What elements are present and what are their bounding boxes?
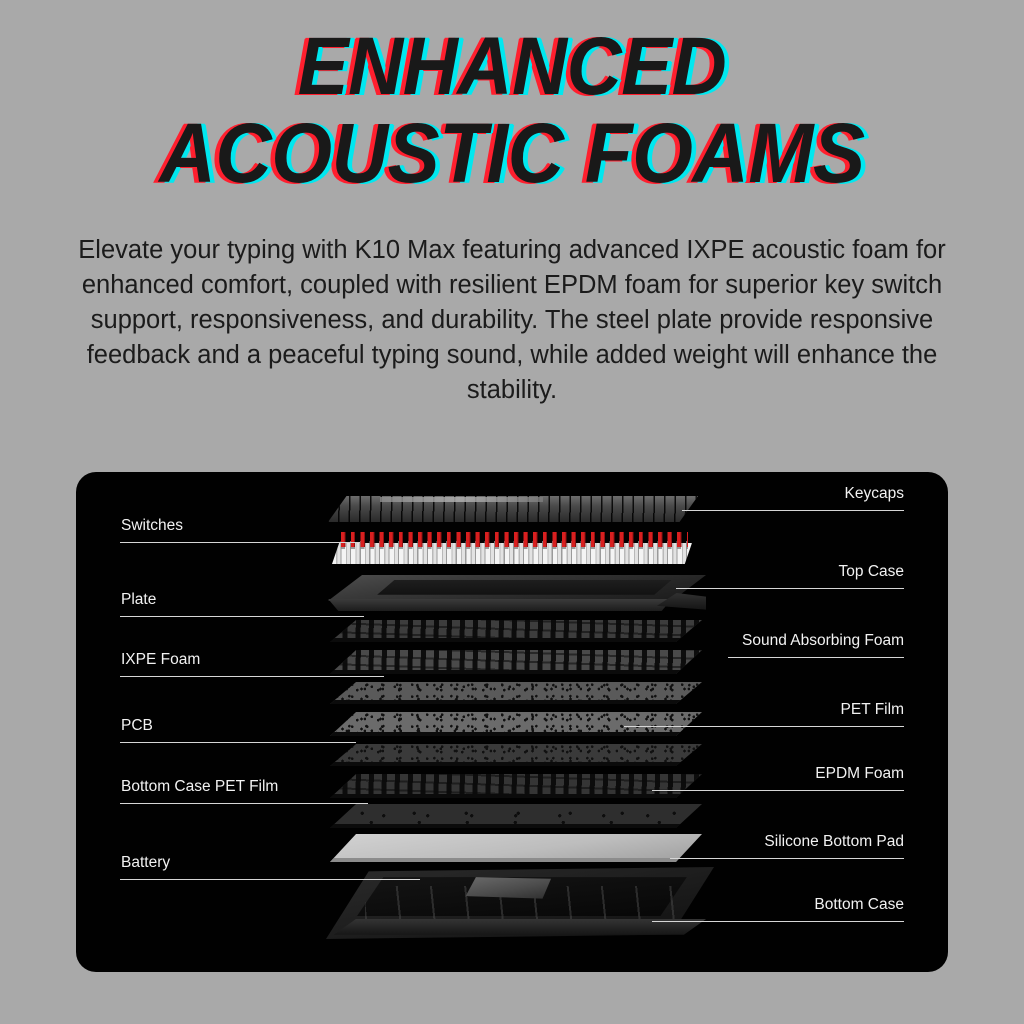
label-epdm-foam-text: EPDM Foam (815, 765, 904, 782)
top-case-front-face (328, 599, 672, 611)
silicone-bottom-pad-edge (330, 858, 702, 862)
label-battery: Battery (121, 855, 170, 871)
label-top-case-text: Top Case (839, 563, 904, 580)
layer-keycaps (328, 496, 698, 522)
label-top-case: Top Case (839, 564, 904, 580)
label-keycaps-text: Keycaps (845, 485, 904, 502)
label-sound-absorbing-foam-text: Sound Absorbing Foam (742, 632, 904, 649)
layer-bottom-case-pet-film (330, 804, 702, 828)
leader-switches (120, 542, 360, 543)
label-pcb: PCB (121, 718, 153, 734)
label-bottom-case-pet-film: Bottom Case PET Film (121, 779, 278, 795)
label-silicone-bottom-pad-text: Silicone Bottom Pad (764, 833, 904, 850)
battery-pack (466, 877, 551, 899)
leader-epdm-foam (652, 790, 904, 791)
leader-battery (120, 879, 420, 880)
layer-silicone-bottom-pad (330, 834, 702, 862)
plate-edge (330, 638, 702, 642)
label-ixpe-foam-text: IXPE Foam (121, 651, 200, 668)
label-battery-text: Battery (121, 854, 170, 871)
layer-plate (330, 620, 702, 642)
label-silicone-bottom-pad: Silicone Bottom Pad (764, 834, 904, 850)
body-copy: Elevate your typing with K10 Max featuri… (57, 233, 967, 408)
label-plate-text: Plate (121, 591, 156, 608)
layer-sound-absorbing-foam (330, 650, 702, 674)
label-sound-absorbing-foam: Sound Absorbing Foam (742, 633, 904, 649)
leader-keycaps (682, 510, 904, 511)
layer-bottom-case (326, 867, 714, 939)
label-pet-film-text: PET Film (841, 701, 904, 718)
layer-pcb (330, 712, 702, 736)
label-keycaps: Keycaps (845, 486, 904, 502)
sound-absorbing-foam-edge (330, 670, 702, 674)
label-switches-text: Switches (121, 517, 183, 534)
leader-sound-absorbing-foam (728, 657, 904, 658)
label-ixpe-foam: IXPE Foam (121, 652, 200, 668)
ixpe-foam-edge (330, 700, 702, 704)
bottom-case-pet-film-edge (330, 824, 702, 828)
layer-ixpe-foam (330, 682, 702, 704)
label-epdm-foam: EPDM Foam (815, 766, 904, 782)
leader-bottom-case (652, 921, 904, 922)
layer-top-case (328, 575, 706, 611)
layer-switches (332, 532, 692, 564)
epdm-foam-edge (330, 794, 702, 798)
headline-line-1: ENHANCED (36, 28, 988, 107)
headline-line-2: ACOUSTIC FOAMS (36, 113, 988, 194)
exploded-view-panel: Switches Plate IXPE Foam PCB Bottom Case… (76, 472, 948, 972)
leader-pet-film (624, 726, 904, 727)
leader-bottom-case-pet-film (120, 803, 368, 804)
label-bottom-case-pet-film-text: Bottom Case PET Film (121, 778, 278, 795)
leader-pcb (120, 742, 356, 743)
bottom-case-front-rim (334, 919, 707, 935)
keycaps-spacebar-highlight (380, 497, 543, 502)
label-switches: Switches (121, 518, 183, 534)
leader-top-case (676, 588, 904, 589)
leader-ixpe-foam (120, 676, 384, 677)
label-bottom-case-text: Bottom Case (814, 896, 904, 913)
layer-epdm-foam (330, 774, 702, 798)
leader-plate (120, 616, 364, 617)
switch-stems (339, 532, 688, 547)
label-bottom-case: Bottom Case (814, 897, 904, 913)
layer-pet-film (330, 744, 702, 766)
label-pet-film: PET Film (841, 702, 904, 718)
headline-block: ENHANCED ACOUSTIC FOAMS (0, 0, 1024, 193)
pcb-edge (330, 732, 702, 736)
label-pcb-text: PCB (121, 717, 153, 734)
label-plate: Plate (121, 592, 156, 608)
top-case-inner-recess (377, 580, 672, 595)
pet-film-edge (330, 762, 702, 766)
leader-silicone-bottom-pad (670, 858, 904, 859)
